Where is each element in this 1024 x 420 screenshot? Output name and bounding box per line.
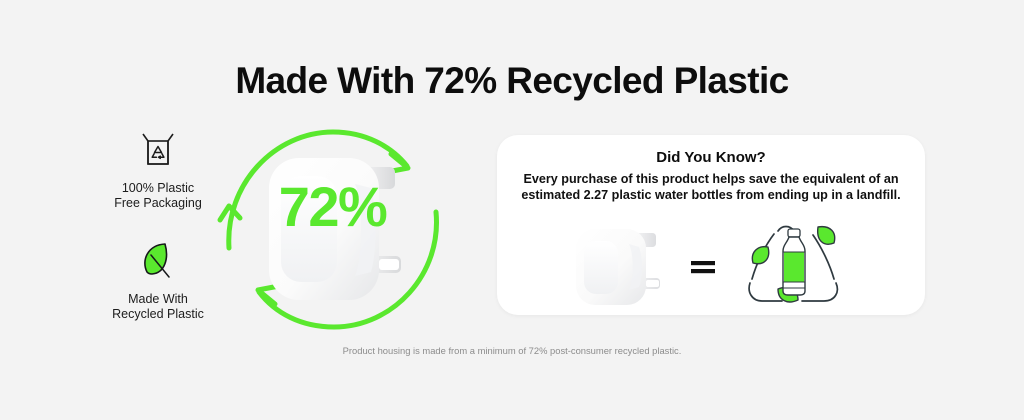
- feature-item-label: 100% Plastic Free Packaging: [114, 181, 202, 211]
- feature-item-label: Made With Recycled Plastic: [112, 292, 204, 322]
- did-you-know-card: Did You Know? Every purchase of this pro…: [497, 135, 925, 315]
- equals-sign-icon: [668, 259, 738, 275]
- green-leaf-icon: [130, 237, 186, 283]
- hero-graphic: 72%: [215, 122, 450, 337]
- white-wall-charger-icon: [572, 224, 668, 310]
- recycled-water-bottle-icon: [738, 221, 850, 313]
- card-heading: Did You Know?: [497, 149, 925, 166]
- page-title: Made With 72% Recycled Plastic: [0, 60, 1024, 102]
- feature-item-recycled-plastic: Made With Recycled Plastic: [88, 237, 228, 322]
- hero-percent-label: 72%: [215, 179, 450, 235]
- feature-item-plastic-free-packaging: 100% Plastic Free Packaging: [88, 126, 228, 211]
- card-body-text: Every purchase of this product helps sav…: [521, 172, 901, 203]
- card-equation: [497, 221, 925, 313]
- footer-disclaimer: Product housing is made from a minimum o…: [0, 345, 1024, 356]
- recyclable-packaging-box-icon: [130, 126, 186, 172]
- feature-list: 100% Plastic Free Packaging Made With Re…: [88, 126, 228, 322]
